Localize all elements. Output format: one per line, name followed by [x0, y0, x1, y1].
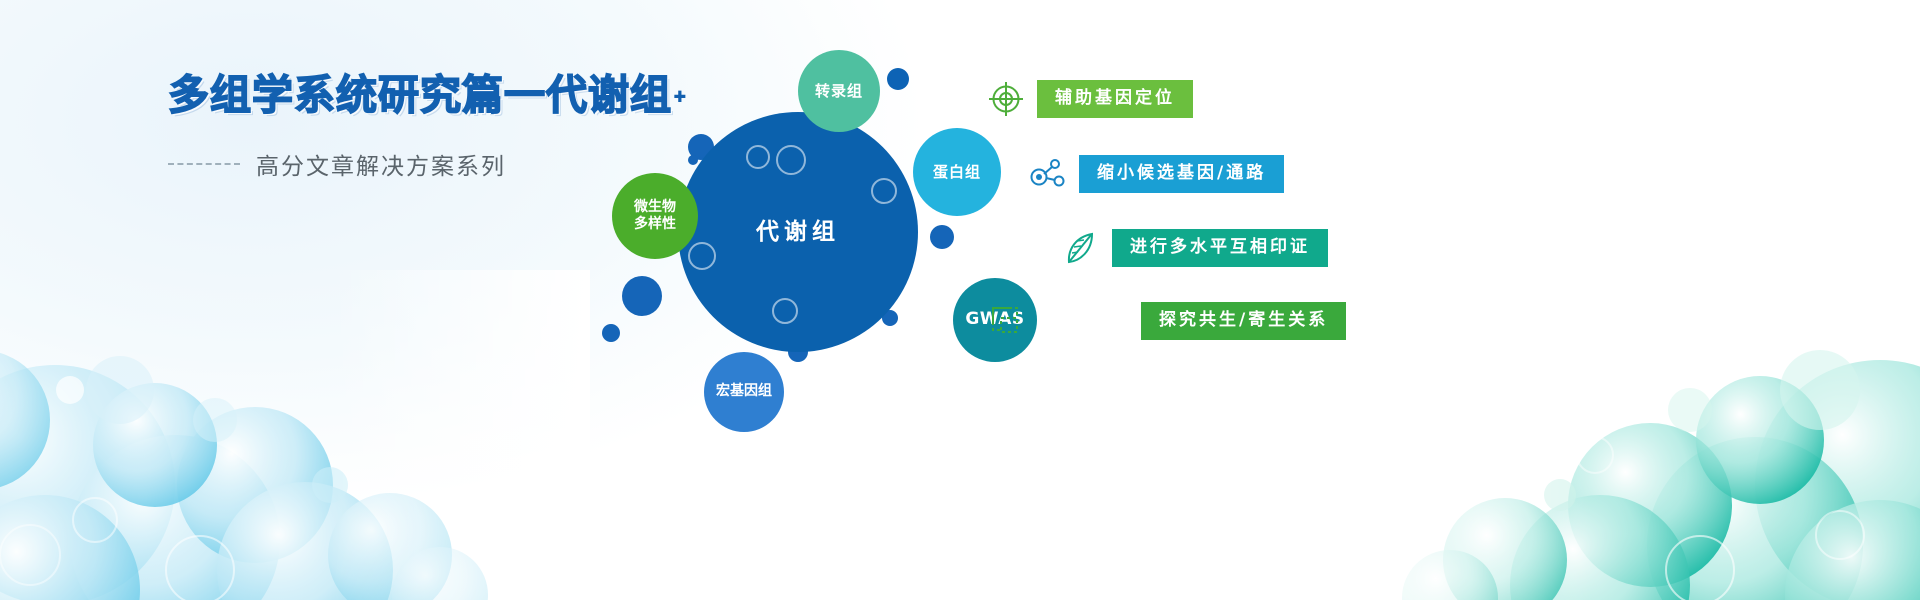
bubble-metagenome-label: 宏基因组 — [716, 383, 772, 401]
bubble-proteome-label: 蛋白组 — [933, 163, 981, 182]
page-subtitle: 高分文章解决方案系列 — [256, 147, 506, 181]
benefit-tag-gene-mapping: 辅助基因定位 — [1037, 80, 1193, 118]
decor-ring — [688, 242, 716, 270]
bubble-microbial-diversity-label-line1: 微生物 — [634, 199, 676, 217]
benefit-row-multilevel-validation[interactable]: 进行多水平互相印证 — [1060, 227, 1328, 269]
target-crosshair-icon — [985, 78, 1027, 120]
decor-dot — [602, 324, 620, 342]
decor-ring — [772, 298, 798, 324]
bubble-proteome[interactable]: 蛋白组 — [913, 128, 1001, 216]
bubble-main-label: 代谢组 — [756, 218, 840, 247]
decor-dot — [688, 155, 698, 165]
decor-ring — [776, 145, 806, 175]
bubble-transcriptome-label: 转录组 — [815, 82, 863, 101]
omics-banner: 多组学系统研究篇一代谢组+ 高分文章解决方案系列 代谢组 转录组 — [0, 0, 1920, 600]
benefit-row-gene-mapping[interactable]: 辅助基因定位 — [985, 78, 1193, 120]
benefit-tag-symbiosis: 探究共生/寄生关系 — [1141, 302, 1346, 340]
dashed-divider — [168, 163, 240, 165]
decor-dot — [622, 276, 662, 316]
decor-ring — [746, 145, 770, 169]
bubble-microbial-diversity[interactable]: 微生物 多样性 — [612, 173, 698, 259]
molecule-node-icon — [1027, 153, 1069, 195]
benefit-row-symbiosis[interactable]: 探究共生/寄生关系 — [985, 300, 1346, 342]
bubble-transcriptome[interactable]: 转录组 — [798, 50, 880, 132]
feather-leaf-icon — [1060, 227, 1102, 269]
benefit-tag-narrow-candidates: 缩小候选基因/通路 — [1079, 155, 1284, 193]
decor-dot — [930, 225, 954, 249]
benefit-row-narrow-candidates[interactable]: 缩小候选基因/通路 — [1027, 153, 1284, 195]
bubble-microbial-diversity-label-line2: 多样性 — [634, 216, 676, 234]
decor-ring — [871, 178, 897, 204]
dashed-square-icon — [985, 300, 1027, 342]
benefit-tag-multilevel-validation: 进行多水平互相印证 — [1112, 229, 1328, 267]
bubble-metagenome[interactable]: 宏基因组 — [704, 352, 784, 432]
decor-dot — [887, 68, 909, 90]
